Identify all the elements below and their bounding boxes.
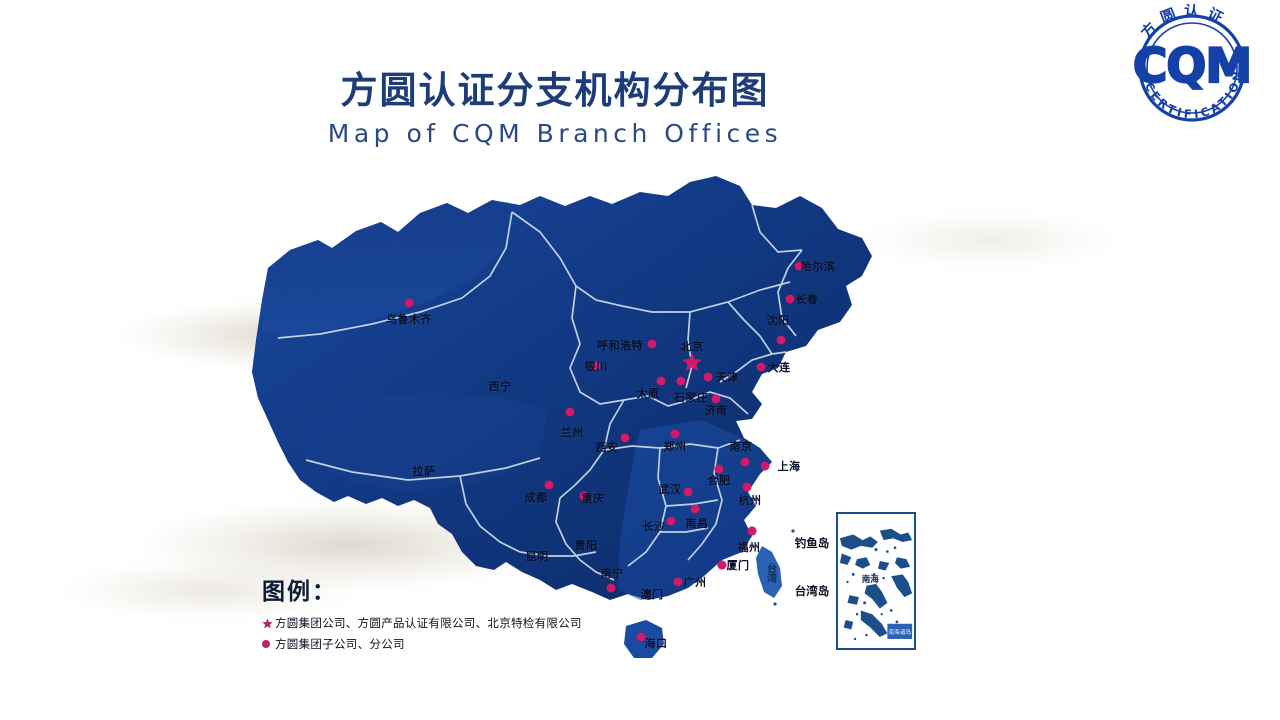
- city-label-urumqi: 乌鲁木齐: [386, 311, 432, 327]
- city-label-xian: 西安: [596, 439, 619, 455]
- city-label-nanchang: 南昌: [686, 515, 709, 531]
- page-title: 方圆认证分支机构分布图 Map of CQM Branch Offices: [0, 70, 1110, 152]
- city-label-beijing: 北京: [681, 338, 704, 354]
- city-label-yinchuan: 银川: [585, 358, 608, 374]
- legend: 图例： 方圆集团公司、方圆产品认证有限公司、北京特检有限公司方圆集团子公司、分公…: [262, 572, 662, 657]
- city-marker-dot-urumqi: [405, 299, 414, 308]
- city-label-shenyang: 沈阳: [767, 312, 790, 328]
- city-label-shanghai: 上海: [778, 458, 801, 474]
- city-marker-dot-hohhot: [648, 340, 657, 349]
- inset-sea-label: 南海: [862, 573, 880, 585]
- legend-title: 图例：: [262, 572, 662, 606]
- city-marker-dot-nanchang: [691, 505, 700, 514]
- legend-rows: 方圆集团公司、方圆产品认证有限公司、北京特检有限公司方圆集团子公司、分公司: [262, 615, 662, 652]
- island-label-taiwan-inland: 台湾: [763, 563, 778, 583]
- city-marker-dot-wuhan: [684, 488, 693, 497]
- title-english: Map of CQM Branch Offices: [0, 115, 1110, 153]
- slide-canvas: 方圆认证分支机构分布图 Map of CQM Branch Offices 方圆…: [0, 0, 1280, 720]
- legend-item-label: 方圆集团子公司、分公司: [275, 636, 405, 652]
- paper-wash-right: [860, 210, 1120, 270]
- mainland-landmass: [252, 176, 872, 600]
- city-marker-dot-changsha: [667, 517, 676, 526]
- city-marker-dot-shijiazhuang: [677, 377, 686, 386]
- city-label-nanjing: 南京: [730, 438, 753, 454]
- city-label-taiyuan: 太原: [637, 385, 660, 401]
- city-label-wuhan: 武汉: [659, 481, 682, 497]
- legend-dot-icon: [262, 640, 275, 648]
- city-label-harbin: 哈尔滨: [801, 258, 836, 274]
- city-label-jinan: 济南: [705, 402, 728, 418]
- title-chinese: 方圆认证分支机构分布图: [0, 70, 1110, 113]
- city-label-kunming: 昆明: [526, 548, 549, 564]
- legend-item-1: 方圆集团公司、方圆产品认证有限公司、北京特检有限公司: [262, 615, 662, 631]
- city-label-tianjin: 天津: [716, 369, 739, 385]
- city-label-dalian: 大连: [768, 359, 791, 375]
- legend-item-2: 方圆集团子公司、分公司: [262, 636, 662, 652]
- province-boundaries: [278, 205, 802, 580]
- island-label-taiwan-island: 台湾岛: [795, 583, 830, 599]
- city-marker-dot-shanghai: [761, 462, 770, 471]
- legend-star-icon: [262, 618, 275, 629]
- cqm-logo: 方圆认证 CERTIFICATION CQM: [1116, 4, 1268, 122]
- city-marker-dot-tianjin: [704, 373, 713, 382]
- city-label-hefei: 合肥: [708, 472, 731, 488]
- city-marker-dot-lanzhou: [566, 408, 575, 417]
- city-label-shijiazhuang: 石家庄: [674, 389, 709, 405]
- city-marker-dot-changchun: [786, 295, 795, 304]
- city-label-guangzhou: 广州: [684, 574, 707, 590]
- city-label-hangzhou: 杭州: [739, 492, 762, 508]
- city-label-xiamen: 厦门: [727, 557, 750, 573]
- city-label-chongqing: 重庆: [582, 490, 605, 506]
- city-label-changsha: 长沙: [643, 518, 666, 534]
- city-label-changchun: 长春: [796, 291, 819, 307]
- city-marker-dot-xian: [621, 434, 630, 443]
- city-marker-dot-shenyang: [777, 336, 786, 345]
- inset-scale-note: 南海诸岛: [888, 628, 911, 636]
- legend-item-label: 方圆集团公司、方圆产品认证有限公司、北京特检有限公司: [275, 615, 582, 631]
- city-label-zhengzhou: 郑州: [664, 438, 687, 454]
- city-label-guiyang: 贵阳: [575, 537, 598, 553]
- city-marker-star-beijing: [682, 352, 702, 372]
- city-marker-dot-dalian: [757, 363, 766, 372]
- city-label-lhasa: 拉萨: [413, 463, 436, 479]
- city-marker-dot-hangzhou: [743, 483, 752, 492]
- seal-wordmark: CQM: [1133, 39, 1251, 94]
- svg-text:CQM: CQM: [1133, 39, 1251, 94]
- city-marker-dot-fuzhou: [748, 527, 757, 536]
- city-label-chengdu: 成都: [525, 489, 548, 505]
- city-marker-dot-xiamen: [718, 561, 727, 570]
- city-label-xining: 西宁: [489, 378, 512, 394]
- city-label-lanzhou: 兰州: [561, 424, 584, 440]
- city-marker-dot-guangzhou: [674, 578, 683, 587]
- south-china-sea-inset: 南海 南海诸岛: [836, 512, 916, 650]
- city-marker-dot-nanjing: [741, 458, 750, 467]
- city-label-fuzhou: 福州: [738, 539, 761, 555]
- island-label-diaoyu-islands: 钓鱼岛: [795, 535, 830, 551]
- city-label-hohhot: 呼和浩特: [597, 337, 643, 353]
